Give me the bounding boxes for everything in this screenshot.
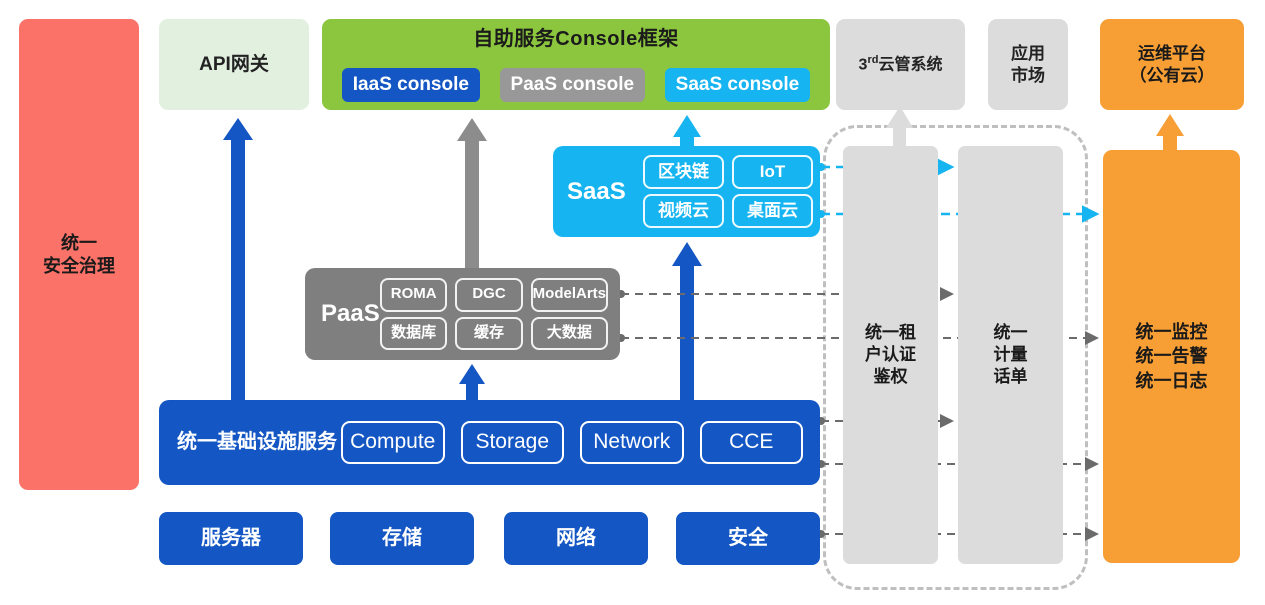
saas-service-video-cloud[interactable]: 视频云 [643, 194, 724, 228]
chip-saas-console[interactable]: SaaS console [665, 68, 811, 102]
saas-service-iot[interactable]: IoT [732, 155, 813, 189]
infrastructure-service-list: Compute Storage Network CCE [341, 421, 803, 464]
infra-service-cce[interactable]: CCE [700, 421, 804, 464]
unified-metering-column[interactable]: 统一 计量 话单 [958, 146, 1063, 564]
chip-paas-console[interactable]: PaaS console [500, 68, 646, 102]
infra-service-network[interactable]: Network [580, 421, 684, 464]
paas-service-dgc[interactable]: DGC [455, 278, 522, 312]
paas-service-modelarts[interactable]: ModelArts [531, 278, 608, 312]
unified-monitoring-panel[interactable]: 统一监控 统一告警 统一日志 [1103, 150, 1240, 563]
app-market-line2: 市场 [1011, 65, 1045, 86]
security-governance-line2: 安全治理 [43, 255, 115, 278]
paas-layer-box[interactable]: PaaS ROMA DGC ModelArts 数据库 缓存 大数据 [305, 268, 620, 360]
unified-tenant-auth-line2: 户认证 [865, 344, 916, 366]
paas-layer-label: PaaS [321, 268, 380, 360]
console-framework-box[interactable]: 自助服务Console框架 IaaS console PaaS console … [322, 19, 830, 110]
hardware-box-network[interactable]: 网络 [504, 512, 648, 565]
app-market-line1: 应用 [1011, 43, 1045, 64]
arrow-infra-to-api-gateway [223, 118, 253, 400]
arrow-ops-panel-to-ops-platform [1156, 114, 1184, 150]
console-framework-title: 自助服务Console框架 [473, 27, 678, 52]
hardware-label-network: 网络 [556, 526, 596, 551]
arrow-infra-to-paas [459, 364, 485, 400]
security-governance-line1: 统一 [43, 232, 115, 255]
ops-platform-box[interactable]: 运维平台 （公有云） [1100, 19, 1244, 110]
ops-platform-line2: （公有云） [1130, 65, 1215, 86]
paas-service-database[interactable]: 数据库 [380, 317, 447, 351]
hardware-box-server[interactable]: 服务器 [159, 512, 303, 565]
ops-platform-line1: 运维平台 [1130, 43, 1215, 64]
saas-service-desktop-cloud[interactable]: 桌面云 [732, 194, 813, 228]
infra-service-compute[interactable]: Compute [341, 421, 445, 464]
unified-monitoring-line3: 统一日志 [1136, 369, 1208, 393]
third-party-cloud-mgmt-label: 3rd云管系统 [859, 54, 943, 75]
saas-service-grid: 区块链 IoT 视频云 桌面云 [643, 155, 813, 228]
unified-metering-line1: 统一 [994, 322, 1028, 344]
hardware-box-security[interactable]: 安全 [676, 512, 820, 565]
saas-layer-box[interactable]: SaaS 区块链 IoT 视频云 桌面云 [553, 146, 820, 237]
unified-monitoring-line1: 统一监控 [1136, 320, 1208, 344]
unified-monitoring-line2: 统一告警 [1136, 344, 1208, 368]
api-gateway-box[interactable]: API网关 [159, 19, 309, 110]
paas-service-bigdata[interactable]: 大数据 [531, 317, 608, 351]
infrastructure-layer-label: 统一基础设施服务 [177, 400, 337, 485]
third-party-cloud-mgmt-box[interactable]: 3rd云管系统 [836, 19, 965, 110]
paas-service-cache[interactable]: 缓存 [455, 317, 522, 351]
unified-metering-line3: 话单 [994, 366, 1028, 388]
arrow-paas-to-console [457, 118, 487, 268]
arrow-infra-to-saas [672, 242, 702, 400]
hardware-label-storage: 存储 [382, 526, 422, 551]
saas-layer-label: SaaS [567, 146, 626, 237]
arrow-saas-to-console [673, 115, 701, 146]
app-market-box[interactable]: 应用 市场 [988, 19, 1068, 110]
infrastructure-layer-box[interactable]: 统一基础设施服务 Compute Storage Network CCE [159, 400, 820, 485]
architecture-diagram: 统一 安全治理 API网关 自助服务Console框架 IaaS console… [0, 0, 1265, 605]
security-governance-panel[interactable]: 统一 安全治理 [19, 19, 139, 490]
chip-iaas-console[interactable]: IaaS console [342, 68, 480, 102]
unified-tenant-auth-line3: 鉴权 [865, 366, 916, 388]
unified-metering-line2: 计量 [994, 344, 1028, 366]
infra-service-storage[interactable]: Storage [461, 421, 565, 464]
api-gateway-label: API网关 [199, 53, 269, 77]
third-cloud-sup: rd [867, 54, 878, 66]
paas-service-grid: ROMA DGC ModelArts 数据库 缓存 大数据 [380, 278, 608, 350]
third-cloud-rest: 云管系统 [878, 56, 942, 73]
hardware-box-storage[interactable]: 存储 [330, 512, 474, 565]
unified-tenant-auth-line1: 统一租 [865, 322, 916, 344]
hardware-label-security: 安全 [728, 526, 768, 551]
unified-tenant-auth-column[interactable]: 统一租 户认证 鉴权 [843, 146, 938, 564]
hardware-label-server: 服务器 [201, 526, 261, 551]
saas-service-blockchain[interactable]: 区块链 [643, 155, 724, 189]
paas-service-roma[interactable]: ROMA [380, 278, 447, 312]
console-chip-list: IaaS console PaaS console SaaS console [322, 65, 830, 105]
